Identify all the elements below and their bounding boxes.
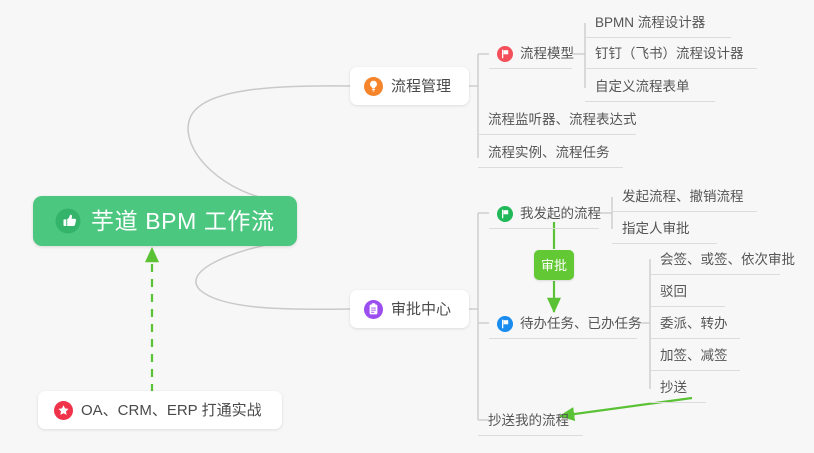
- approval-annotation-badge: 审批: [534, 250, 574, 280]
- leaf-cc-my-process[interactable]: 抄送我的流程: [478, 406, 583, 436]
- leaf-todo-done-tasks[interactable]: 待办任务、已办任务: [489, 309, 637, 339]
- bottom-tag-node[interactable]: OA、CRM、ERP 打通实战: [38, 391, 282, 429]
- leaf-my-initiated-process[interactable]: 我发起的流程: [489, 199, 599, 229]
- branch-label: 流程管理: [391, 79, 451, 94]
- leaf-bpmn-designer[interactable]: BPMN 流程设计器: [585, 8, 731, 38]
- leaf-process-listener[interactable]: 流程监听器、流程表达式: [478, 105, 636, 135]
- leaf-assigned-approver[interactable]: 指定人审批: [612, 214, 717, 244]
- root-label: 芋道 BPM 工作流: [91, 210, 275, 233]
- flag-blue-icon: [497, 316, 513, 332]
- mindmap-canvas: 芋道 BPM 工作流 OA、CRM、ERP 打通实战 流程管理: [0, 0, 814, 453]
- branch-label: 审批中心: [391, 302, 451, 317]
- root-node[interactable]: 芋道 BPM 工作流: [33, 196, 297, 246]
- leaf-process-instance[interactable]: 流程实例、流程任务: [478, 138, 623, 168]
- leaf-cc[interactable]: 抄送: [650, 373, 706, 403]
- star-icon: [54, 401, 73, 420]
- thumbs-up-icon: [55, 208, 81, 234]
- clipboard-icon: [364, 300, 383, 319]
- bottom-tag-label: OA、CRM、ERP 打通实战: [81, 403, 262, 418]
- leaf-label: 流程模型: [520, 47, 574, 61]
- wire-root-to-process-management: [188, 86, 350, 201]
- branch-process-management[interactable]: 流程管理: [350, 67, 469, 105]
- leaf-dingtalk-designer[interactable]: 钉钉（飞书）流程设计器: [585, 39, 757, 69]
- lightbulb-icon: [364, 77, 383, 96]
- flag-green-icon: [497, 206, 513, 222]
- flag-red-icon: [497, 46, 513, 62]
- leaf-countersign[interactable]: 会签、或签、依次审批: [650, 245, 780, 275]
- branch-approval-center[interactable]: 审批中心: [350, 290, 469, 328]
- leaf-start-cancel-process[interactable]: 发起流程、撤销流程: [612, 182, 757, 212]
- leaf-process-model[interactable]: 流程模型: [489, 39, 572, 69]
- leaf-reject[interactable]: 驳回: [650, 277, 725, 307]
- wire-root-to-approval-center: [196, 242, 350, 309]
- leaf-add-remove-sign[interactable]: 加签、减签: [650, 341, 740, 371]
- leaf-custom-form[interactable]: 自定义流程表单: [585, 72, 715, 102]
- leaf-delegate-transfer[interactable]: 委派、转办: [650, 309, 740, 339]
